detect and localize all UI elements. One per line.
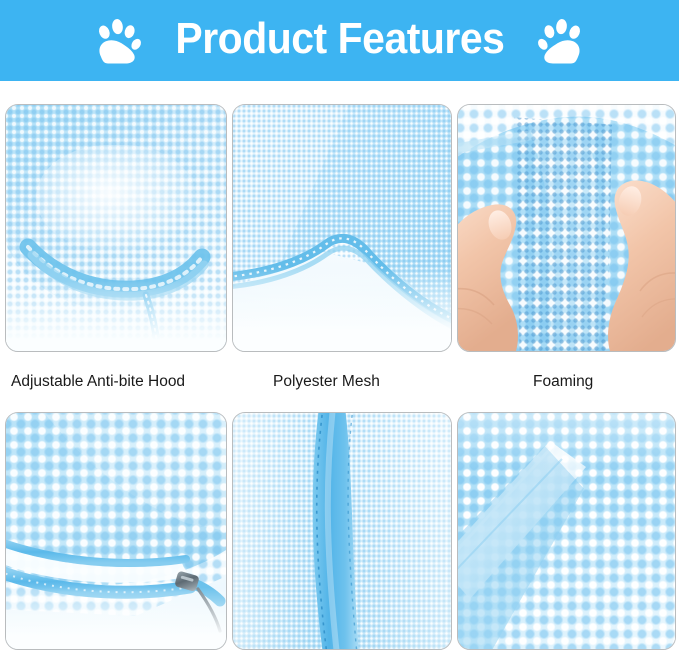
product-photo-mesh-fabric [233,105,451,351]
page-header-banner: Product Features [0,0,679,81]
product-image-panel [232,412,452,650]
product-image-panel [232,104,452,352]
product-photo-mesh-macro [458,413,675,649]
page-title: Product Features [175,17,504,65]
product-image-panel [457,104,676,352]
product-photo-zipper [6,413,226,649]
product-photo-hands-stretching-mesh [458,105,675,351]
paw-print-icon [534,17,586,65]
panel-caption: Adjustable Anti-bite Hood [11,374,185,390]
product-image-panel [5,104,227,352]
product-photo-hood [6,105,226,351]
panel-caption: Polyester Mesh [273,374,380,390]
product-photo-seam [233,413,451,649]
product-image-panel [457,412,676,650]
panel-caption: Foaming [533,374,593,390]
product-image-panel [5,412,227,650]
paw-print-icon [93,17,145,65]
